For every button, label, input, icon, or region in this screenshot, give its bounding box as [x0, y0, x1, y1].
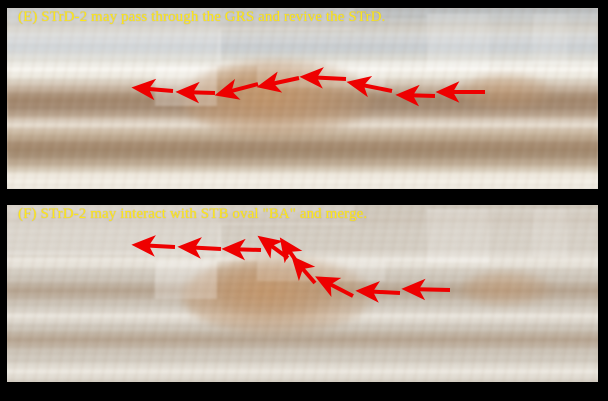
panel-f-caption: (F) STrD-2 may interact with STB oval "B… [18, 206, 367, 223]
figure-root: (E) STrD-2 may pass through the GRS and … [0, 0, 608, 401]
panel-e-image: (E) STrD-2 may pass through the GRS and … [7, 8, 598, 189]
panel-e-caption: (E) STrD-2 may pass through the GRS and … [18, 9, 385, 26]
panel-f-arrow-trail [7, 205, 598, 382]
panel-e-arrow-trail [7, 8, 598, 189]
panel-f-image: (F) STrD-2 may interact with STB oval "B… [7, 205, 598, 382]
